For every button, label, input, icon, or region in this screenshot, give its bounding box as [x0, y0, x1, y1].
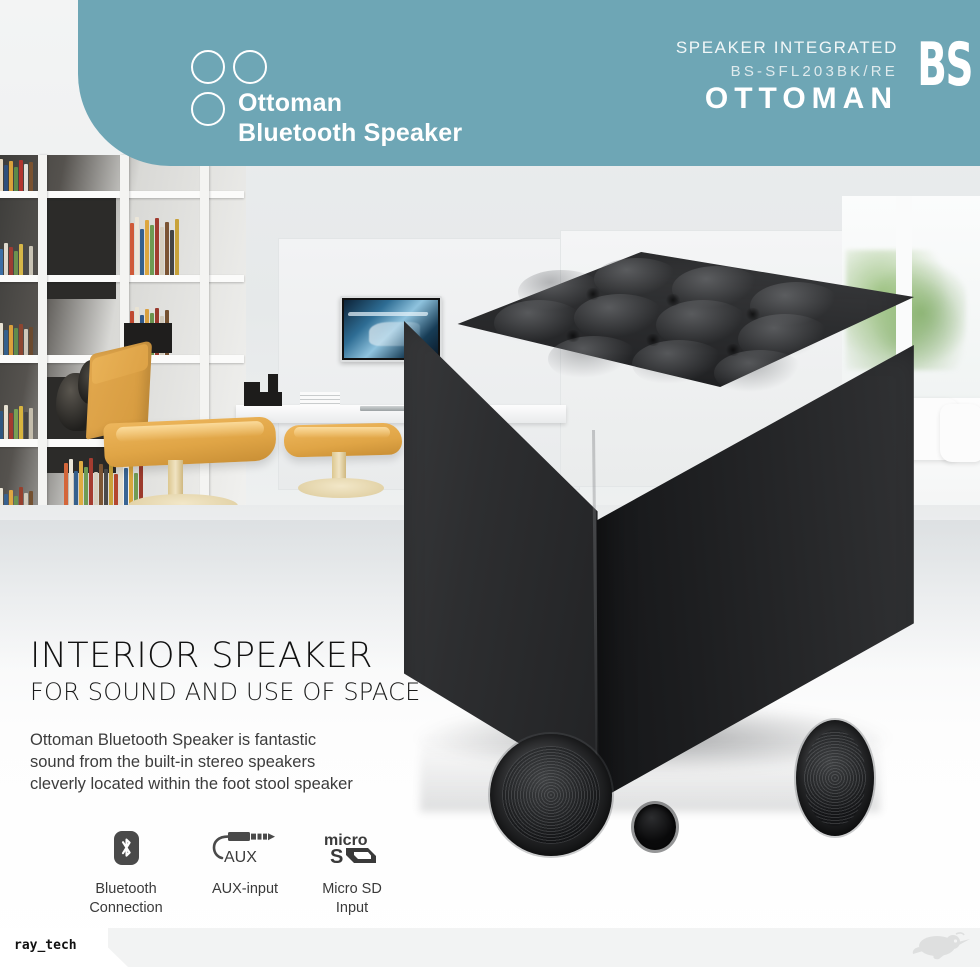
feature-microsd-label-1: Micro SD: [292, 880, 412, 899]
description-paragraph: Ottoman Bluetooth Speaker is fantastic s…: [30, 729, 430, 795]
bass-port: [634, 804, 676, 850]
stacked-books: [300, 392, 340, 405]
micro-sd-icon: micro S: [292, 824, 412, 872]
aux-jack-icon: AUX: [185, 824, 305, 872]
feature-microsd-label-2: Input: [292, 899, 412, 918]
description-line-1: Ottoman Bluetooth Speaker is fantastic: [30, 729, 430, 751]
feature-micro-sd: micro S Micro SD Input: [292, 824, 412, 918]
ottoman-speaker-product: [398, 252, 918, 782]
circle-top-right-icon: [233, 50, 267, 84]
header-tagline: SPEAKER INTEGRATED: [676, 38, 898, 58]
product-advertisement: Ottoman Bluetooth Speaker SPEAKER INTEGR…: [0, 0, 980, 967]
feature-bluetooth-label-1: Bluetooth: [66, 880, 186, 899]
feature-list: Bluetooth Connection AUX: [30, 824, 420, 934]
description-line-3: cleverly located within the foot stool s…: [30, 773, 430, 795]
headline: INTERIOR SPEAKER: [30, 636, 430, 676]
header-model-number: BS-SFL203BK/RE: [676, 63, 898, 80]
footstool-base: [298, 478, 384, 498]
header-product-info: SPEAKER INTEGRATED BS-SFL203BK/RE OTTOMA…: [676, 38, 898, 116]
circle-bottom-left-icon: [191, 92, 225, 126]
header-product-name: OTTOMAN: [676, 82, 898, 116]
brand-title: Ottoman Bluetooth Speaker: [238, 88, 462, 148]
feature-bluetooth: Bluetooth Connection: [66, 824, 186, 918]
micro-sd-icon-text-sd: S: [330, 846, 343, 868]
subheadline: FOR SOUND AND USE OF SPACE: [30, 678, 430, 707]
marketing-copy: INTERIOR SPEAKER FOR SOUND AND USE OF SP…: [30, 636, 430, 795]
bs-logo: BS: [917, 36, 972, 94]
circle-top-left-icon: [191, 50, 225, 84]
kiwi-bird-watermark: [910, 930, 972, 962]
description-line-2: sound from the built-in stereo speakers: [30, 751, 430, 773]
brand-title-line2: Bluetooth Speaker: [238, 118, 462, 148]
seller-name: ray_tech: [14, 938, 77, 953]
header-banner: Ottoman Bluetooth Speaker SPEAKER INTEGR…: [78, 0, 980, 166]
aux-icon-text: AUX: [224, 849, 257, 866]
feature-aux: AUX AUX-input: [185, 824, 305, 899]
feature-bluetooth-label-2: Connection: [66, 899, 186, 918]
brand-title-line1: Ottoman: [238, 88, 462, 118]
feature-aux-label-1: AUX-input: [185, 880, 305, 899]
footer-bar: [0, 928, 980, 967]
bluetooth-icon: [66, 824, 186, 872]
